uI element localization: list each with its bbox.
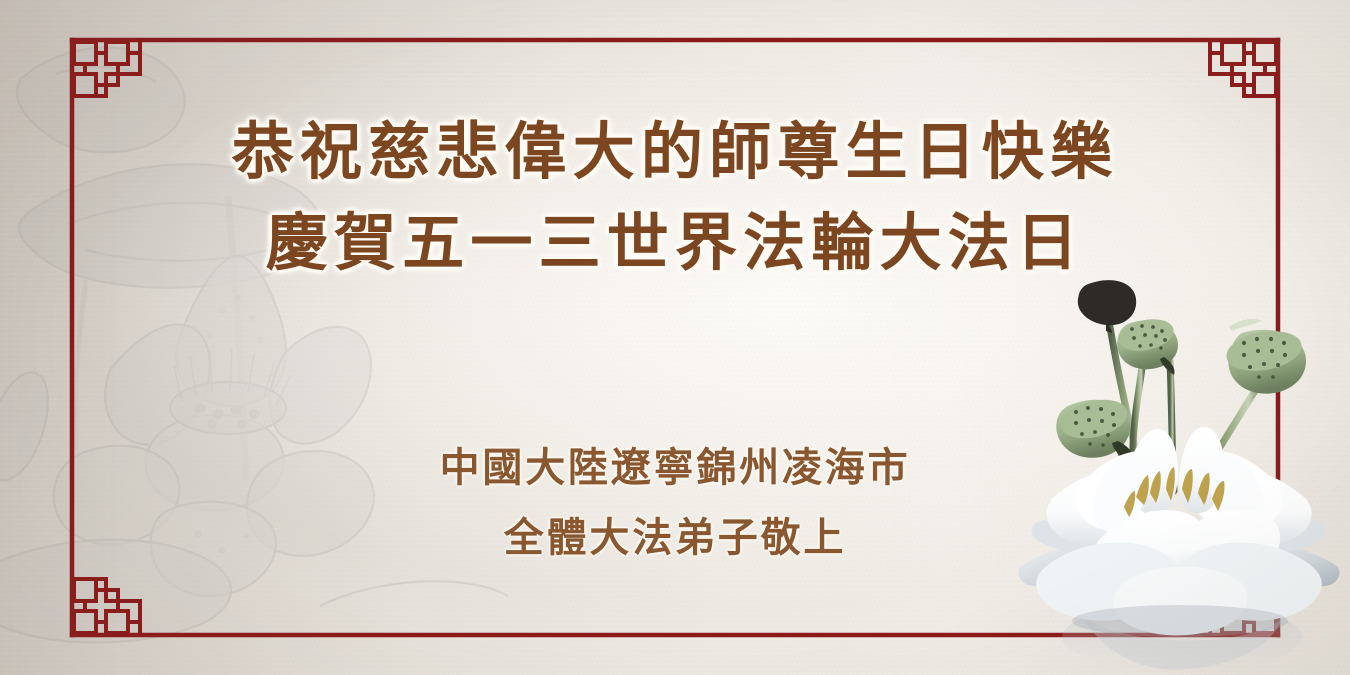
signature-block: 中國大陸遼寧錦州凌海市 全體大法弟子敬上 xyxy=(0,438,1350,568)
headline-line-1: 恭祝慈悲偉大的師尊生日快樂 xyxy=(0,112,1350,193)
signature-line-1: 中國大陸遼寧錦州凌海市 xyxy=(0,438,1350,498)
headline-line-2: 慶賀五一三世界法輪大法日 xyxy=(0,203,1350,284)
greeting-card: 恭祝慈悲偉大的師尊生日快樂 慶賀五一三世界法輪大法日 中國大陸遼寧錦州凌海市 全… xyxy=(0,0,1350,675)
edge-vignette xyxy=(0,0,1350,675)
signature-line-2: 全體大法弟子敬上 xyxy=(0,508,1350,568)
headline-block: 恭祝慈悲偉大的師尊生日快樂 慶賀五一三世界法輪大法日 xyxy=(0,112,1350,283)
